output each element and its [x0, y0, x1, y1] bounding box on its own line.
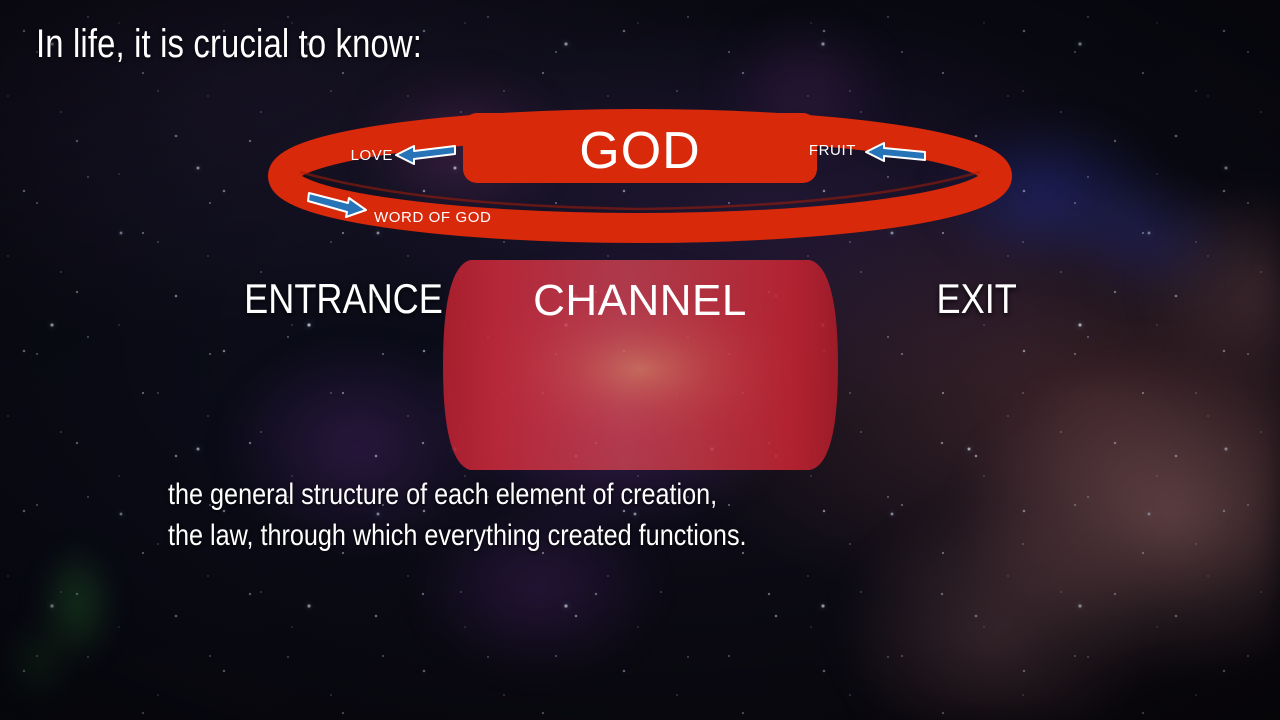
entrance-label: ENTRANCE [244, 275, 443, 323]
caption-block: the general structure of each element of… [168, 474, 747, 557]
channel-node[interactable]: CHANNEL [443, 260, 838, 470]
fruit-label: FRUIT [809, 142, 856, 159]
channel-label: CHANNEL [533, 276, 747, 325]
caption-line-2: the law, through which everything create… [168, 515, 747, 556]
exit-label: EXIT [937, 275, 1017, 323]
god-node[interactable]: GOD [463, 113, 817, 183]
god-label: GOD [579, 122, 700, 180]
creation-structure-diagram: GOD LOVE WORD OF GOD FRUIT [0, 0, 1280, 720]
caption-line-1: the general structure of each element of… [168, 474, 747, 515]
love-label: LOVE [351, 147, 393, 164]
presentation-slide: In life, it is crucial to know: [0, 0, 1280, 720]
word-of-god-label: WORD OF GOD [374, 209, 491, 226]
